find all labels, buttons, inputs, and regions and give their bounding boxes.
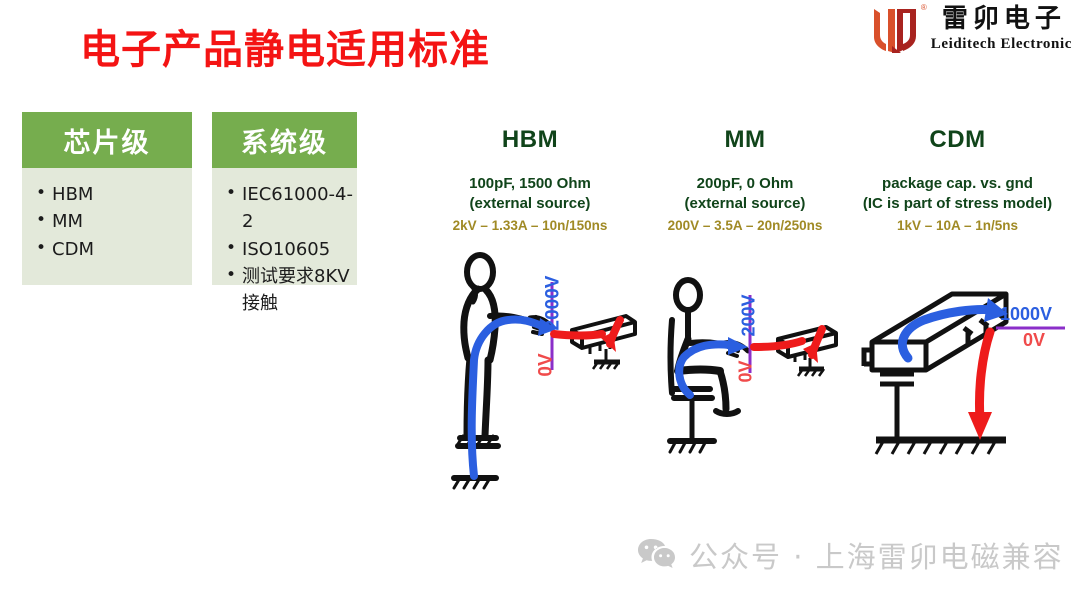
hbm-standing-person-esd-diagram: 2000V 0V — [430, 250, 640, 500]
card-system-level-body: •IEC61000-4-2 •ISO10605 •测试要求8KV 接触 — [212, 168, 357, 285]
list-item-label: CDM — [52, 236, 94, 263]
wechat-icon — [637, 537, 675, 574]
list-item: •CDM — [36, 236, 192, 263]
logo-wordmark: 雷卯电子 Leiditech Electronic — [931, 6, 1072, 52]
list-item: •IEC61000-4-2 — [226, 181, 357, 236]
list-item-label: HBM — [52, 181, 93, 208]
cdm-high-voltage-label: 1000V — [1000, 304, 1052, 325]
model-spec-line3-cdm: 1kV – 10A – 1n/5ns — [850, 218, 1065, 233]
model-spec-line1-cdm: package cap. vs. gnd — [850, 174, 1065, 194]
slide-root: 电子产品静电适用标准 ® 雷卯电子 Leiditech Electronic 芯… — [0, 0, 1080, 602]
card-system-level-heading: 系统级 — [212, 112, 357, 168]
logo-name-en: Leiditech Electronic — [931, 37, 1072, 52]
brand-logo: ® 雷卯电子 Leiditech Electronic — [870, 4, 1072, 54]
mm-seated-person-esd-diagram: 200V 0V — [650, 265, 845, 480]
model-column-cdm: CDM package cap. vs. gnd (IC is part of … — [850, 126, 1065, 233]
discharge-path-arrow — [979, 332, 990, 420]
discharge-path-arrow — [554, 334, 602, 336]
page-title: 电子产品静电适用标准 — [80, 17, 490, 75]
registered-trademark-mark: ® — [921, 3, 927, 12]
cdm-package-discharge-diagram: 1000V 0V — [860, 280, 1075, 475]
bullet-icon: • — [36, 236, 46, 261]
footer-text: 公众号 · 上海雷卯电磁兼容 — [689, 534, 1064, 576]
model-title-hbm: HBM — [420, 126, 640, 154]
logo-name-cn: 雷卯电子 — [937, 6, 1066, 32]
hbm-high-voltage-label: 2000V — [542, 276, 564, 331]
card-chip-level: 芯片级 •HBM •MM •CDM — [22, 112, 192, 285]
model-spec-line1-mm: 200pF, 0 Ohm — [640, 174, 850, 194]
model-spec-line2-cdm: (IC is part of stress model) — [850, 194, 1065, 214]
list-item: •MM — [36, 208, 192, 235]
model-spec-line3-hbm: 2kV – 1.33A – 10n/150ns — [420, 218, 640, 233]
mm-zero-voltage-label: 0V — [736, 360, 757, 382]
model-column-mm: MM 200pF, 0 Ohm (external source) 200V –… — [640, 126, 850, 233]
hbm-zero-voltage-label: 0V — [536, 353, 558, 376]
card-system-level: 系统级 •IEC61000-4-2 •ISO10605 •测试要求8KV 接触 — [212, 112, 357, 285]
list-item: •HBM — [36, 181, 192, 208]
card-chip-level-heading: 芯片级 — [22, 112, 192, 168]
model-title-cdm: CDM — [850, 126, 1065, 154]
model-column-hbm: HBM 100pF, 1500 Ohm (external source) 2k… — [420, 126, 640, 233]
list-item: •ISO10605 — [226, 236, 357, 263]
list-item-label: ISO10605 — [242, 236, 330, 263]
footer-watermark: 公众号 · 上海雷卯电磁兼容 — [637, 534, 1064, 576]
card-chip-level-body: •HBM •MM •CDM — [22, 168, 192, 285]
model-spec-line3-mm: 200V – 3.5A – 20n/250ns — [640, 218, 850, 233]
bullet-icon: • — [36, 208, 46, 233]
charge-path-arrow — [472, 319, 542, 476]
model-spec-line1-hbm: 100pF, 1500 Ohm — [420, 174, 640, 194]
cdm-zero-voltage-label: 0V — [1023, 330, 1045, 351]
discharge-path-arrow — [754, 341, 802, 347]
bullet-icon: • — [226, 236, 236, 261]
bullet-icon: • — [36, 181, 46, 206]
bullet-icon: • — [226, 181, 236, 206]
mm-high-voltage-label: 200V — [739, 294, 760, 336]
model-spec-line2-mm: (external source) — [640, 194, 850, 214]
bullet-icon: • — [226, 263, 236, 288]
list-item-label: 测试要求8KV 接触 — [242, 263, 350, 318]
leiditech-shield-logo-icon: ® — [870, 4, 922, 54]
model-title-mm: MM — [640, 126, 850, 154]
list-item-label: IEC61000-4-2 — [242, 181, 357, 236]
list-item: •测试要求8KV 接触 — [226, 263, 357, 318]
list-item-label: MM — [52, 208, 83, 235]
model-spec-line2-hbm: (external source) — [420, 194, 640, 214]
